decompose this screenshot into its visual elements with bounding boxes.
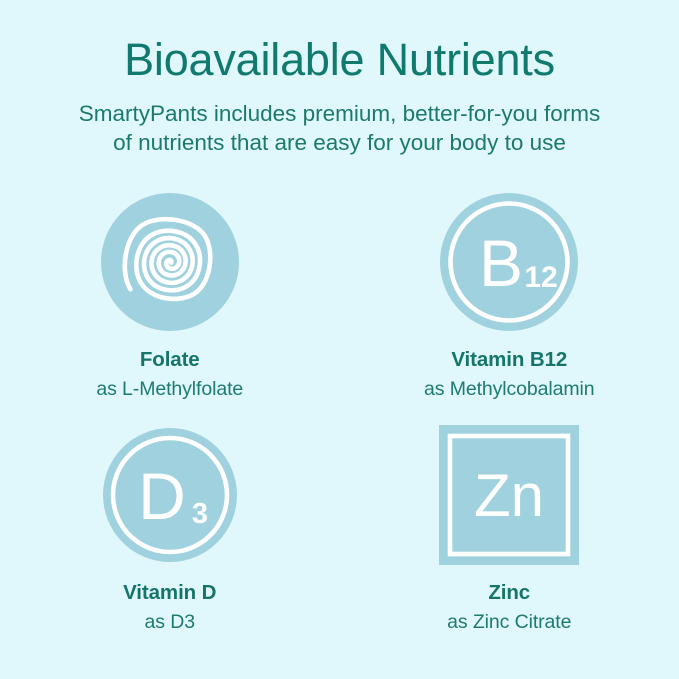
subtitle-line-2: of nutrients that are easy for your body…	[30, 128, 650, 158]
nutrient-form: as D3	[123, 609, 216, 635]
b12-symbol: B	[479, 226, 523, 300]
b12-subscript: 12	[525, 261, 558, 294]
header: Bioavailable Nutrients SmartyPants inclu…	[0, 0, 679, 158]
nutrient-name: Vitamin B12	[424, 347, 595, 374]
spiral-circle-icon	[100, 192, 240, 332]
nutrient-card-vitamin-d: D 3 Vitamin D as D3	[0, 425, 340, 658]
nutrient-labels: Vitamin B12 as Methylcobalamin	[424, 347, 595, 402]
nutrient-grid: Folate as L-Methylfolate B 12 Vitamin B1…	[0, 192, 679, 658]
zinc-symbol: Zn	[474, 462, 544, 529]
d3-subscript: 3	[192, 498, 208, 530]
b12-circle-icon: B 12	[439, 192, 579, 332]
zinc-square-icon: Zn	[439, 425, 579, 565]
nutrient-name: Folate	[96, 347, 243, 374]
nutrient-labels: Zinc as Zinc Citrate	[447, 580, 571, 635]
nutrient-labels: Vitamin D as D3	[123, 580, 216, 635]
nutrient-card-folate: Folate as L-Methylfolate	[0, 192, 340, 425]
nutrient-form: as Methylcobalamin	[424, 376, 595, 402]
d3-symbol: D	[138, 459, 186, 533]
nutrient-form: as Zinc Citrate	[447, 609, 571, 635]
page-subtitle: SmartyPants includes premium, better-for…	[16, 99, 664, 158]
nutrient-card-zinc: Zn Zinc as Zinc Citrate	[340, 425, 679, 658]
nutrient-card-vitamin-b12: B 12 Vitamin B12 as Methylcobalamin	[340, 192, 679, 425]
nutrient-form: as L-Methylfolate	[96, 376, 243, 402]
subtitle-line-1: SmartyPants includes premium, better-for…	[30, 99, 650, 129]
infographic-page: Bioavailable Nutrients SmartyPants inclu…	[0, 0, 679, 679]
nutrient-name: Vitamin D	[123, 580, 216, 607]
nutrient-name: Zinc	[447, 580, 571, 607]
d3-circle-icon: D 3	[100, 425, 240, 565]
nutrient-labels: Folate as L-Methylfolate	[96, 347, 243, 402]
page-title: Bioavailable Nutrients	[0, 36, 679, 85]
